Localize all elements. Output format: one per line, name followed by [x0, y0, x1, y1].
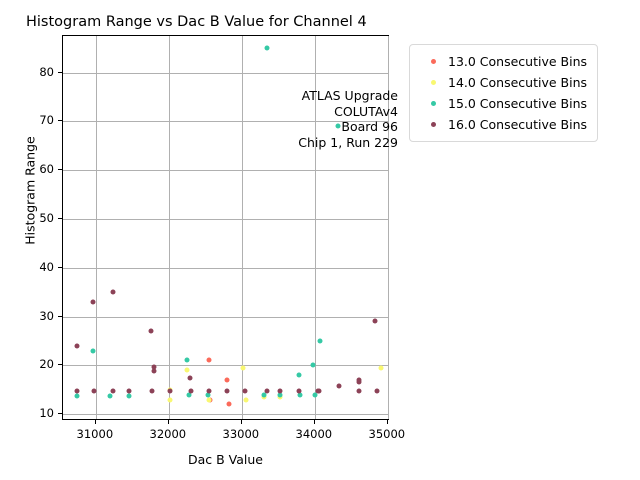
gridline-horizontal	[63, 317, 388, 318]
data-point	[110, 388, 115, 393]
data-point	[126, 393, 131, 398]
data-point	[108, 393, 113, 398]
data-point	[150, 388, 155, 393]
legend-item[interactable]: 14.0 Consecutive Bins	[418, 72, 587, 93]
x-tick-label: 34000	[296, 427, 333, 441]
data-point	[225, 388, 230, 393]
x-tick-mark	[168, 420, 169, 424]
y-axis-label: Histogram Range	[23, 81, 38, 301]
data-point	[277, 388, 282, 393]
data-point	[92, 388, 97, 393]
gridline-horizontal	[63, 365, 388, 366]
data-point	[168, 388, 173, 393]
y-tick-mark	[58, 364, 62, 365]
data-point	[378, 365, 383, 370]
legend-item[interactable]: 13.0 Consecutive Bins	[418, 51, 587, 72]
y-tick-mark	[58, 267, 62, 268]
data-point	[244, 397, 249, 402]
y-tick-mark	[58, 413, 62, 414]
data-point	[206, 397, 211, 402]
y-tick-label: 30	[22, 309, 54, 323]
y-tick-mark	[58, 169, 62, 170]
x-tick-mark	[387, 420, 388, 424]
data-point	[296, 388, 301, 393]
x-tick-mark	[314, 420, 315, 424]
data-point	[206, 358, 211, 363]
legend-item-label: 16.0 Consecutive Bins	[448, 117, 587, 132]
figure-canvas: Histogram Range vs Dac B Value for Chann…	[0, 0, 640, 480]
y-tick-mark	[58, 218, 62, 219]
data-point	[90, 348, 95, 353]
legend-item[interactable]: 15.0 Consecutive Bins	[418, 93, 587, 114]
data-point	[74, 394, 79, 399]
legend-item[interactable]: 16.0 Consecutive Bins	[418, 114, 587, 135]
legend-marker-dot	[431, 80, 436, 85]
y-tick-label: 80	[22, 65, 54, 79]
legend-marker-icon	[418, 101, 448, 106]
data-point	[188, 388, 193, 393]
data-point	[336, 383, 341, 388]
data-point	[317, 388, 322, 393]
y-tick-label: 10	[22, 406, 54, 420]
gridline-horizontal	[63, 170, 388, 171]
gridline-horizontal	[63, 414, 388, 415]
data-point	[148, 329, 153, 334]
data-point	[185, 368, 190, 373]
data-point	[374, 388, 379, 393]
legend-marker-dot	[431, 59, 436, 64]
gridline-horizontal	[63, 219, 388, 220]
data-point	[188, 375, 193, 380]
data-point	[243, 388, 248, 393]
x-tick-mark	[95, 420, 96, 424]
page-title: Histogram Range vs Dac B Value for Chann…	[26, 14, 367, 30]
x-tick-label: 32000	[150, 427, 187, 441]
annotation-text: ATLAS Upgrade COLUTAv4 Board 96 Chip 1, …	[233, 88, 398, 150]
y-tick-mark	[58, 120, 62, 121]
legend-item-label: 14.0 Consecutive Bins	[448, 75, 587, 90]
gridline-horizontal	[63, 73, 388, 74]
data-point	[227, 402, 232, 407]
data-point	[206, 388, 211, 393]
legend-marker-icon	[418, 59, 448, 64]
data-point	[311, 363, 316, 368]
data-point	[373, 319, 378, 324]
y-tick-mark	[58, 316, 62, 317]
data-point	[265, 46, 270, 51]
gridline-vertical	[96, 36, 97, 419]
y-tick-label: 20	[22, 357, 54, 371]
data-point	[74, 388, 79, 393]
y-tick-mark	[58, 72, 62, 73]
gridline-horizontal	[63, 268, 388, 269]
data-point	[90, 299, 95, 304]
data-point	[110, 290, 115, 295]
x-tick-mark	[241, 420, 242, 424]
data-point	[357, 388, 362, 393]
x-tick-label: 33000	[223, 427, 260, 441]
data-point	[356, 380, 361, 385]
data-point	[185, 358, 190, 363]
data-point	[296, 373, 301, 378]
data-point	[167, 397, 172, 402]
legend-marker-icon	[418, 122, 448, 127]
plot-area: ATLAS Upgrade COLUTAv4 Board 96 Chip 1, …	[62, 35, 389, 420]
x-tick-label: 31000	[77, 427, 114, 441]
gridline-vertical	[169, 36, 170, 419]
legend-marker-dot	[431, 122, 436, 127]
legend-item-label: 13.0 Consecutive Bins	[448, 54, 587, 69]
data-point	[317, 338, 322, 343]
x-tick-label: 35000	[369, 427, 406, 441]
data-point	[151, 369, 156, 374]
legend-item-label: 15.0 Consecutive Bins	[448, 96, 587, 111]
legend-marker-dot	[431, 101, 436, 106]
x-axis-label: Dac B Value	[62, 452, 389, 467]
data-point	[241, 365, 246, 370]
data-point	[265, 388, 270, 393]
legend-marker-icon	[418, 80, 448, 85]
data-point	[126, 388, 131, 393]
legend: 13.0 Consecutive Bins14.0 Consecutive Bi…	[409, 44, 598, 142]
data-point	[225, 378, 230, 383]
data-point	[74, 343, 79, 348]
